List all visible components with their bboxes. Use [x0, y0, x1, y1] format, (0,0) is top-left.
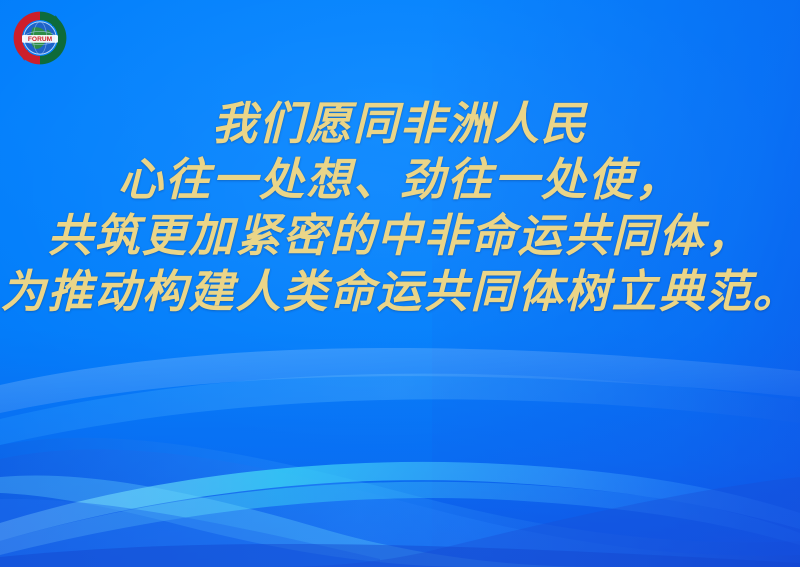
banner-root: FORUM 我们愿同非洲人民 心往一处想、劲往一处使， 共筑更加紧密的中非命运共…: [0, 0, 800, 567]
logo-forum-text: FORUM: [28, 36, 53, 43]
quote-block: 我们愿同非洲人民 心往一处想、劲往一处使， 共筑更加紧密的中非命运共同体， 为推…: [0, 96, 800, 320]
focac-logo: FORUM: [10, 8, 70, 68]
quote-line-3: 共筑更加紧密的中非命运共同体，: [0, 208, 800, 264]
quote-line-4: 为推动构建人类命运共同体树立典范。: [0, 264, 800, 320]
quote-line-2: 心往一处想、劲往一处使，: [0, 152, 800, 208]
wave-decoration: [0, 327, 800, 567]
quote-line-1: 我们愿同非洲人民: [0, 96, 800, 152]
